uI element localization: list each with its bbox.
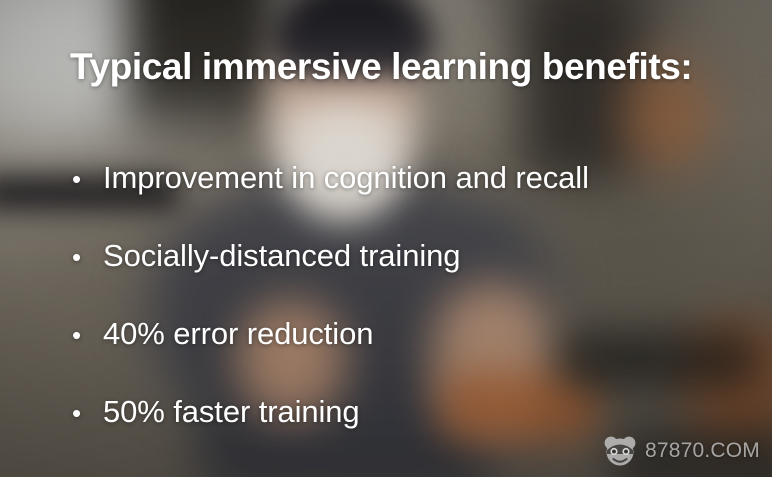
panda-mascot-icon xyxy=(602,435,638,467)
slide-content: Typical immersive learning benefits: • I… xyxy=(0,0,772,477)
watermark-label: 87870.COM xyxy=(645,439,760,463)
bullet-point-icon: • xyxy=(72,322,103,348)
list-item-label: 50% faster training xyxy=(103,394,360,430)
presentation-slide: Typical immersive learning benefits: • I… xyxy=(0,0,772,477)
list-item-label: Socially-distanced training xyxy=(103,238,460,274)
list-item: • Improvement in cognition and recall xyxy=(72,160,589,238)
bullet-point-icon: • xyxy=(72,244,103,270)
list-item-label: Improvement in cognition and recall xyxy=(103,160,589,196)
list-item: • Socially-distanced training xyxy=(72,238,589,316)
list-item: • 40% error reduction xyxy=(72,316,589,394)
bullet-point-icon: • xyxy=(72,400,103,426)
list-item: • 50% faster training xyxy=(72,394,589,472)
benefits-list: • Improvement in cognition and recall • … xyxy=(72,160,589,472)
bullet-point-icon: • xyxy=(72,166,103,192)
watermark: 87870.COM xyxy=(602,435,760,467)
slide-title: Typical immersive learning benefits: xyxy=(70,46,692,88)
list-item-label: 40% error reduction xyxy=(103,316,373,352)
